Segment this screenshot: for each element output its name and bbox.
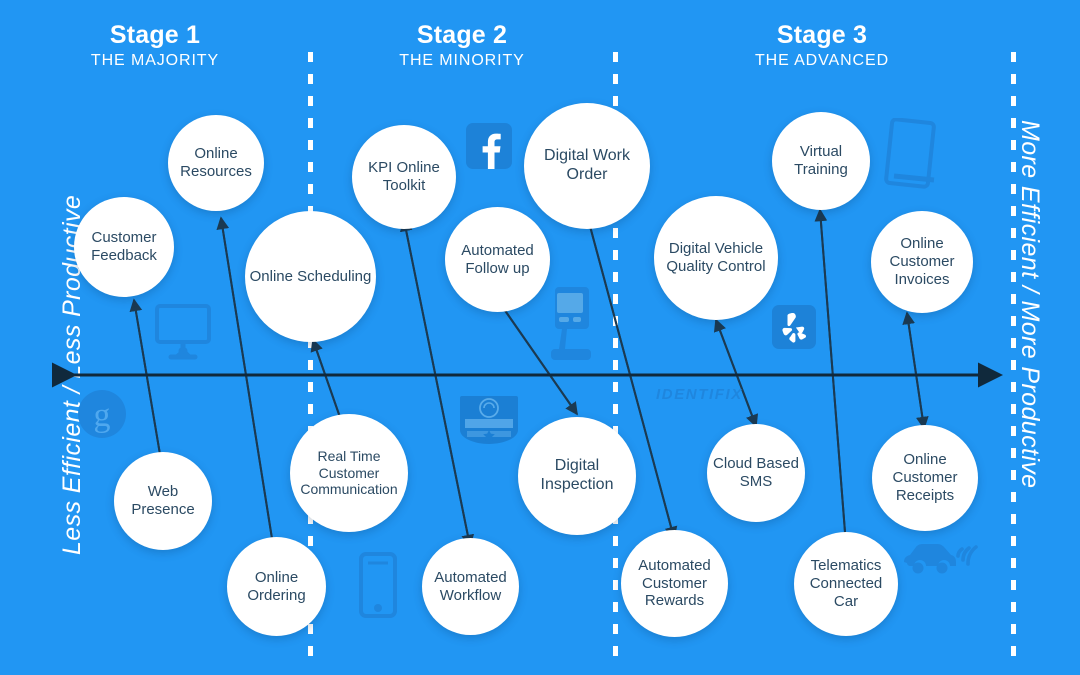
bubble-online-ordering[interactable]: Online Ordering bbox=[227, 537, 326, 636]
bubble-online-resources[interactable]: Online Resources bbox=[168, 115, 264, 211]
bubble-label: Digital Vehicle Quality Control bbox=[658, 240, 774, 275]
connector-online-customer-receipts bbox=[907, 313, 924, 428]
bubble-automated-customer-rewards[interactable]: Automated Customer Rewards bbox=[621, 530, 728, 637]
bubble-label: Digital Work Order bbox=[528, 147, 646, 185]
bubble-label: Automated Customer Rewards bbox=[625, 557, 724, 610]
svg-text:g: g bbox=[94, 397, 111, 434]
bubble-label: Online Customer Invoices bbox=[875, 235, 969, 288]
bubble-customer-feedback[interactable]: Customer Feedback bbox=[74, 197, 174, 297]
smartphone-icon bbox=[358, 551, 398, 619]
desktop-monitor-icon bbox=[154, 303, 216, 361]
bubble-digital-vehicle-quality-control[interactable]: Digital Vehicle Quality Control bbox=[654, 196, 778, 320]
bubble-label: Telematics Connected Car bbox=[798, 557, 894, 610]
bubble-label: Online Customer Receipts bbox=[876, 451, 974, 504]
bubble-automated-workflow[interactable]: Automated Workflow bbox=[422, 538, 519, 635]
google-logo-icon: g bbox=[78, 390, 126, 438]
bubble-label: Digital Inspection bbox=[522, 457, 632, 495]
bubble-automated-follow-up[interactable]: Automated Follow up bbox=[445, 207, 550, 312]
connector-telematics-connected-car bbox=[820, 210, 846, 545]
bubble-label: Online Resources bbox=[172, 145, 260, 180]
bubble-online-customer-invoices[interactable]: Online Customer Invoices bbox=[871, 211, 973, 313]
facebook-logo-icon bbox=[466, 123, 512, 169]
bubble-label: Real Time Customer Communication bbox=[294, 448, 404, 498]
bubble-label: Virtual Training bbox=[776, 143, 866, 178]
golden-rule-auto-care-badge bbox=[458, 394, 520, 446]
bubble-label: Automated Follow up bbox=[449, 242, 546, 277]
bubble-label: Online Scheduling bbox=[249, 268, 372, 286]
identifix-wordmark: IDENTIFIX bbox=[656, 386, 743, 403]
bubble-label: Online Ordering bbox=[231, 569, 322, 604]
connector-cloud-based-sms bbox=[716, 320, 756, 426]
bubble-kpi-online-toolkit[interactable]: KPI Online Toolkit bbox=[352, 125, 456, 229]
bubble-digital-work-order[interactable]: Digital Work Order bbox=[524, 103, 650, 229]
bubble-label: Customer Feedback bbox=[78, 229, 170, 264]
bubble-online-scheduling[interactable]: Online Scheduling bbox=[245, 211, 376, 342]
bubble-telematics-connected-car[interactable]: Telematics Connected Car bbox=[794, 532, 898, 636]
bubble-digital-inspection[interactable]: Digital Inspection bbox=[518, 417, 636, 535]
bubble-cloud-based-sms[interactable]: Cloud Based SMS bbox=[707, 424, 805, 522]
bubble-real-time-customer-communication[interactable]: Real Time Customer Communication bbox=[290, 414, 408, 532]
tablet-icon bbox=[884, 118, 940, 192]
bubble-web-presence[interactable]: Web Presence bbox=[114, 452, 212, 550]
connected-car-icon bbox=[900, 530, 980, 580]
yelp-logo-icon bbox=[772, 305, 816, 349]
bubble-label: KPI Online Toolkit bbox=[356, 159, 452, 194]
kiosk-terminal-icon bbox=[547, 285, 593, 360]
bubble-label: Web Presence bbox=[118, 483, 208, 518]
infographic-canvas: Stage 1 THE MAJORITY Stage 2 THE MINORIT… bbox=[0, 0, 1080, 675]
bubble-online-customer-receipts[interactable]: Online Customer Receipts bbox=[872, 425, 978, 531]
bubble-label: Automated Workflow bbox=[426, 569, 515, 604]
bubble-label: Cloud Based SMS bbox=[711, 455, 801, 490]
bubble-virtual-training[interactable]: Virtual Training bbox=[772, 112, 870, 210]
